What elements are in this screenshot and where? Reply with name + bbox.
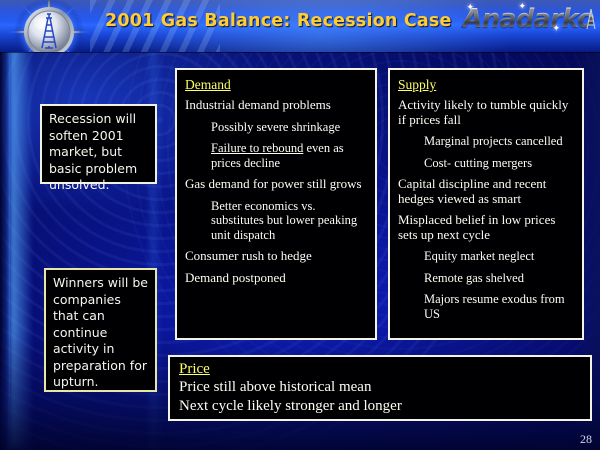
demand-item-power: Gas demand for power still grows — [185, 177, 368, 192]
price-line-next-cycle: Next cycle likely stronger and longer — [179, 397, 590, 416]
demand-item-shrinkage: Possibly severe shrinkage — [211, 120, 368, 135]
demand-item-economics: Better economics vs. substitutes but low… — [211, 199, 368, 243]
supply-item-capital-discipline: Capital discipline and recent hedges vie… — [398, 177, 575, 206]
demand-item-failure-rebound: Failure to rebound even as prices declin… — [211, 141, 368, 170]
callout-box-winners-text: Winners will be companies that can conti… — [46, 270, 155, 395]
demand-item-failure-rebound-underlined: Failure to rebound — [211, 141, 303, 155]
price-panel-heading: Price — [179, 360, 590, 378]
page-number: 28 — [580, 432, 592, 447]
page-title: 2001 Gas Balance: Recession Case — [105, 11, 440, 31]
supply-panel: Supply Activity likely to tumble quickly… — [388, 68, 584, 340]
supply-item-marginal-projects: Marginal projects cancelled — [424, 134, 575, 149]
logo-sparkle-icon: ✦ — [552, 24, 560, 33]
supply-item-majors-exodus: Majors resume exodus from US — [424, 292, 575, 321]
supply-item-activity: Activity likely to tumble quickly if pri… — [398, 98, 575, 127]
supply-item-remote-gas: Remote gas shelved — [424, 271, 575, 286]
callout-box-recession-text: Recession will soften 2001 market, but b… — [42, 106, 155, 198]
logo-sparkle-icon: ✦ — [518, 2, 526, 11]
demand-item-postponed: Demand postponed — [185, 271, 368, 286]
supply-item-equity-neglect: Equity market neglect — [424, 249, 575, 264]
callout-box-winners: Winners will be companies that can conti… — [44, 268, 157, 392]
anadarko-logo-wordmark: Anadarko — [463, 4, 594, 34]
logo-sparkle-icon: ✦ — [466, 3, 474, 12]
supply-item-misplaced-belief: Misplaced belief in low prices sets up n… — [398, 213, 575, 242]
slide-header-bar: 2001 Gas Balance: Recession Case Anadark… — [0, 0, 600, 52]
demand-panel: Demand Industrial demand problems Possib… — [175, 68, 377, 340]
slide-canvas: 2001 Gas Balance: Recession Case Anadark… — [0, 0, 600, 450]
callout-box-recession: Recession will soften 2001 market, but b… — [40, 104, 157, 184]
price-line-historical-mean: Price still above historical mean — [179, 378, 590, 397]
demand-panel-heading: Demand — [185, 77, 231, 93]
supply-item-cost-cutting: Cost- cutting mergers — [424, 156, 575, 171]
brand-derrick-icon — [585, 5, 597, 31]
demand-item-hedge: Consumer rush to hedge — [185, 249, 368, 264]
supply-panel-heading: Supply — [398, 77, 436, 93]
demand-item-industrial: Industrial demand problems — [185, 98, 368, 113]
price-panel: Price Price still above historical mean … — [168, 355, 592, 421]
compass-derrick-emblem — [4, 0, 100, 52]
